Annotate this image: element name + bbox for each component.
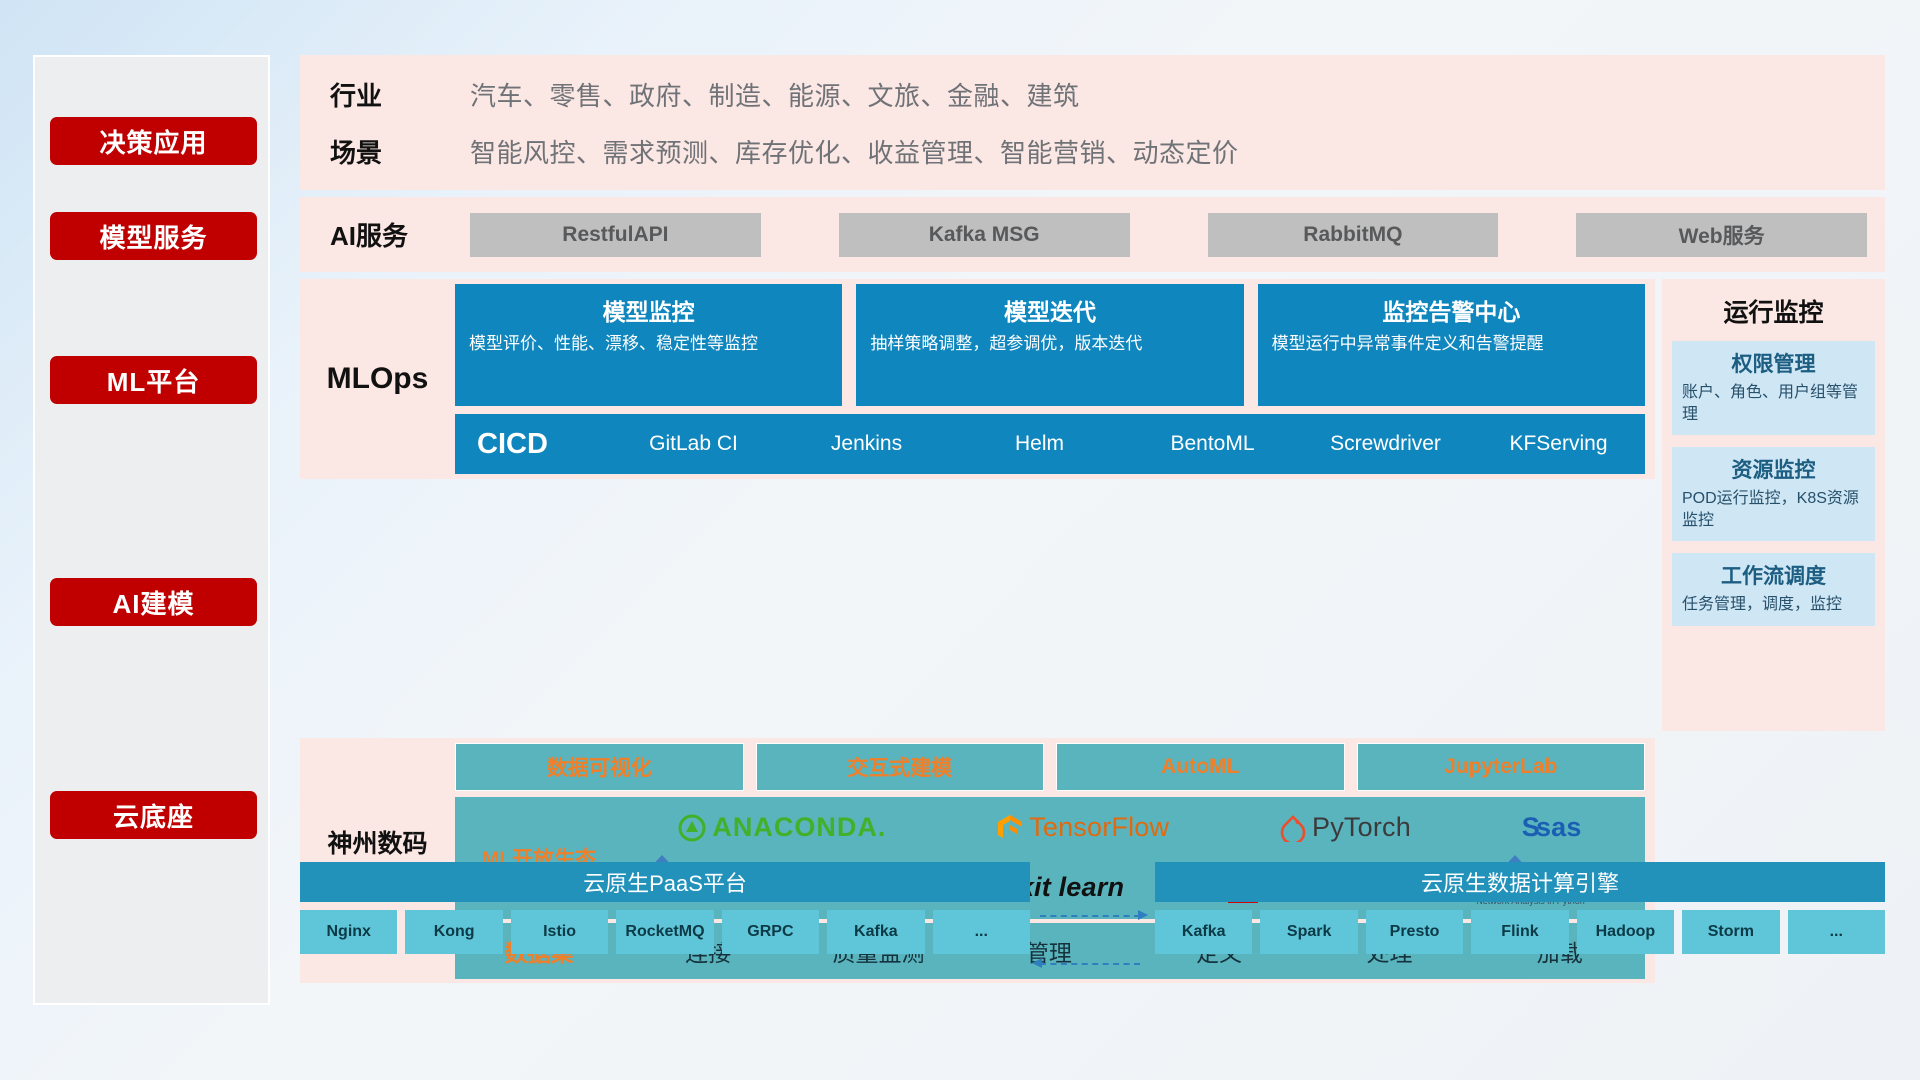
- industry-label: 行业: [330, 76, 470, 113]
- cloud-chip-storm[interactable]: Storm: [1682, 910, 1779, 954]
- lab-tab-data-visualization[interactable]: 数据可视化: [455, 743, 744, 791]
- card-desc: 模型运行中异常事件定义和告警提醒: [1272, 333, 1631, 355]
- cloud-chip-nginx[interactable]: Nginx: [300, 910, 397, 954]
- cicd-item-jenkins[interactable]: Jenkins: [780, 433, 953, 455]
- mlops-card-alert-center[interactable]: 监控告警中心 模型运行中异常事件定义和告警提醒: [1258, 284, 1645, 406]
- mlops-label: MLOps: [300, 362, 455, 396]
- cloud-foundation: 云原生PaaS平台 云原生数据计算引擎 Nginx Kong Istio Roc…: [300, 862, 1885, 954]
- card-title: 工作流调度: [1682, 560, 1865, 590]
- cicd-bar: CICD GitLab CI Jenkins Helm BentoML Scre…: [455, 414, 1645, 474]
- card-title: 权限管理: [1682, 348, 1865, 378]
- anaconda-icon: [678, 814, 706, 842]
- cicd-item-gitlab-ci[interactable]: GitLab CI: [607, 433, 780, 455]
- mlops-and-monitor-row: MLOps 模型监控 模型评价、性能、漂移、稳定性等监控 模型迭代 抽样策略调整…: [300, 279, 1885, 731]
- main-column: 行业 汽车、零售、政府、制造、能源、文旅、金融、建筑 场景 智能风控、需求预测、…: [300, 55, 1885, 983]
- cloud-bar-data-engine[interactable]: 云原生数据计算引擎: [1155, 862, 1885, 902]
- industry-scenario-band: 行业 汽车、零售、政府、制造、能源、文旅、金融、建筑 场景 智能风控、需求预测、…: [300, 55, 1885, 190]
- runtime-monitor-panel: 运行监控 权限管理 账户、角色、用户组等管理 资源监控 POD运行监控，K8S资…: [1662, 279, 1885, 731]
- monitor-card-permission[interactable]: 权限管理 账户、角色、用户组等管理: [1672, 341, 1875, 435]
- cicd-item-kfserving[interactable]: KFServing: [1472, 433, 1645, 455]
- monitor-card-resource[interactable]: 资源监控 POD运行监控，K8S资源监控: [1672, 447, 1875, 541]
- lab-tab-automl[interactable]: AutoML: [1056, 743, 1345, 791]
- service-chip-rabbitmq[interactable]: RabbitMQ: [1208, 213, 1499, 257]
- lab-tab-interactive-modeling[interactable]: 交互式建模: [756, 743, 1045, 791]
- scenario-row: 场景 智能风控、需求预测、库存优化、收益管理、智能营销、动态定价: [330, 123, 1885, 180]
- card-desc: 模型评价、性能、漂移、稳定性等监控: [469, 333, 828, 355]
- paas-chip-row: Nginx Kong Istio RocketMQ GRPC Kafka ...: [300, 910, 1030, 954]
- card-title: 监控告警中心: [1272, 293, 1631, 327]
- cloud-chip-kafka[interactable]: Kafka: [827, 910, 924, 954]
- cloud-chip-istio[interactable]: Istio: [511, 910, 608, 954]
- cloud-chip-more-right[interactable]: ...: [1788, 910, 1885, 954]
- tensorflow-logo: TensorFlow: [997, 812, 1169, 843]
- anaconda-logo: ANACONDA.: [678, 812, 886, 843]
- card-desc: 账户、角色、用户组等管理: [1682, 382, 1865, 425]
- tensorflow-icon: [997, 813, 1023, 843]
- cicd-item-bentoml[interactable]: BentoML: [1126, 433, 1299, 455]
- ai-service-band: AI服务 RestfulAPI Kafka MSG RabbitMQ Web服务: [300, 197, 1885, 272]
- sas-label: sas: [1536, 812, 1582, 843]
- pytorch-label: PyTorch: [1312, 812, 1411, 843]
- rail-item-ai-modeling[interactable]: AI建模: [50, 578, 257, 626]
- rail-item-model-service[interactable]: 模型服务: [50, 212, 257, 260]
- lab-tab-jupyterlab[interactable]: JupyterLab: [1357, 743, 1646, 791]
- cicd-item-helm[interactable]: Helm: [953, 433, 1126, 455]
- scenario-label: 场景: [330, 133, 470, 170]
- card-desc: 抽样策略调整，超参调优，版本迭代: [870, 333, 1229, 355]
- card-desc: 任务管理，调度，监控: [1682, 594, 1865, 616]
- industry-values: 汽车、零售、政府、制造、能源、文旅、金融、建筑: [470, 76, 1080, 113]
- data-engine-chip-row: Kafka Spark Presto Flink Hadoop Storm ..…: [1155, 910, 1885, 954]
- layer-rail: 决策应用 模型服务 ML平台 AI建模 云底座: [33, 55, 270, 1005]
- cloud-chip-hadoop[interactable]: Hadoop: [1577, 910, 1674, 954]
- anaconda-label: ANACONDA.: [712, 812, 886, 843]
- sas-logo: S sas: [1522, 812, 1582, 843]
- cloud-chip-spark[interactable]: Spark: [1260, 910, 1357, 954]
- cloud-chip-kafka-right[interactable]: Kafka: [1155, 910, 1252, 954]
- card-title: 模型迭代: [870, 293, 1229, 327]
- service-chip-restfulapi[interactable]: RestfulAPI: [470, 213, 761, 257]
- rail-item-ml-platform[interactable]: ML平台: [50, 356, 257, 404]
- cloud-chip-grpc[interactable]: GRPC: [722, 910, 819, 954]
- monitor-card-workflow[interactable]: 工作流调度 任务管理，调度，监控: [1672, 553, 1875, 626]
- industry-row: 行业 汽车、零售、政府、制造、能源、文旅、金融、建筑: [330, 66, 1885, 123]
- ml-lab-label-line1: 神州数码: [300, 828, 455, 861]
- diagram-canvas: 决策应用 模型服务 ML平台 AI建模 云底座 行业 汽车、零售、政府、制造、能…: [0, 0, 1920, 1080]
- cicd-item-screwdriver[interactable]: Screwdriver: [1299, 433, 1472, 455]
- card-desc: POD运行监控，K8S资源监控: [1682, 488, 1865, 531]
- card-title: 资源监控: [1682, 454, 1865, 484]
- mlops-band: MLOps 模型监控 模型评价、性能、漂移、稳定性等监控 模型迭代 抽样策略调整…: [300, 279, 1655, 479]
- cloud-chip-more-left[interactable]: ...: [933, 910, 1030, 954]
- card-title: 模型监控: [469, 293, 828, 327]
- cicd-label: CICD: [477, 428, 607, 461]
- pytorch-logo: PyTorch: [1280, 812, 1411, 843]
- rail-item-decision-app[interactable]: 决策应用: [50, 117, 257, 165]
- runtime-monitor-title: 运行监控: [1672, 293, 1875, 329]
- pytorch-icon: [1280, 814, 1306, 842]
- scenario-values: 智能风控、需求预测、库存优化、收益管理、智能营销、动态定价: [470, 133, 1239, 170]
- mlops-card-model-monitoring[interactable]: 模型监控 模型评价、性能、漂移、稳定性等监控: [455, 284, 842, 406]
- mlops-card-model-iteration[interactable]: 模型迭代 抽样策略调整，超参调优，版本迭代: [856, 284, 1243, 406]
- cloud-chip-presto[interactable]: Presto: [1366, 910, 1463, 954]
- service-chip-web[interactable]: Web服务: [1576, 213, 1867, 257]
- cloud-bar-paas[interactable]: 云原生PaaS平台: [300, 862, 1030, 902]
- cloud-chip-rocketmq[interactable]: RocketMQ: [616, 910, 713, 954]
- cloud-chip-kong[interactable]: Kong: [405, 910, 502, 954]
- service-chip-kafka-msg[interactable]: Kafka MSG: [839, 213, 1130, 257]
- rail-item-cloud-base[interactable]: 云底座: [50, 791, 257, 839]
- tensorflow-label: TensorFlow: [1029, 812, 1169, 843]
- cloud-chip-flink[interactable]: Flink: [1471, 910, 1568, 954]
- ai-service-label: AI服务: [330, 216, 470, 253]
